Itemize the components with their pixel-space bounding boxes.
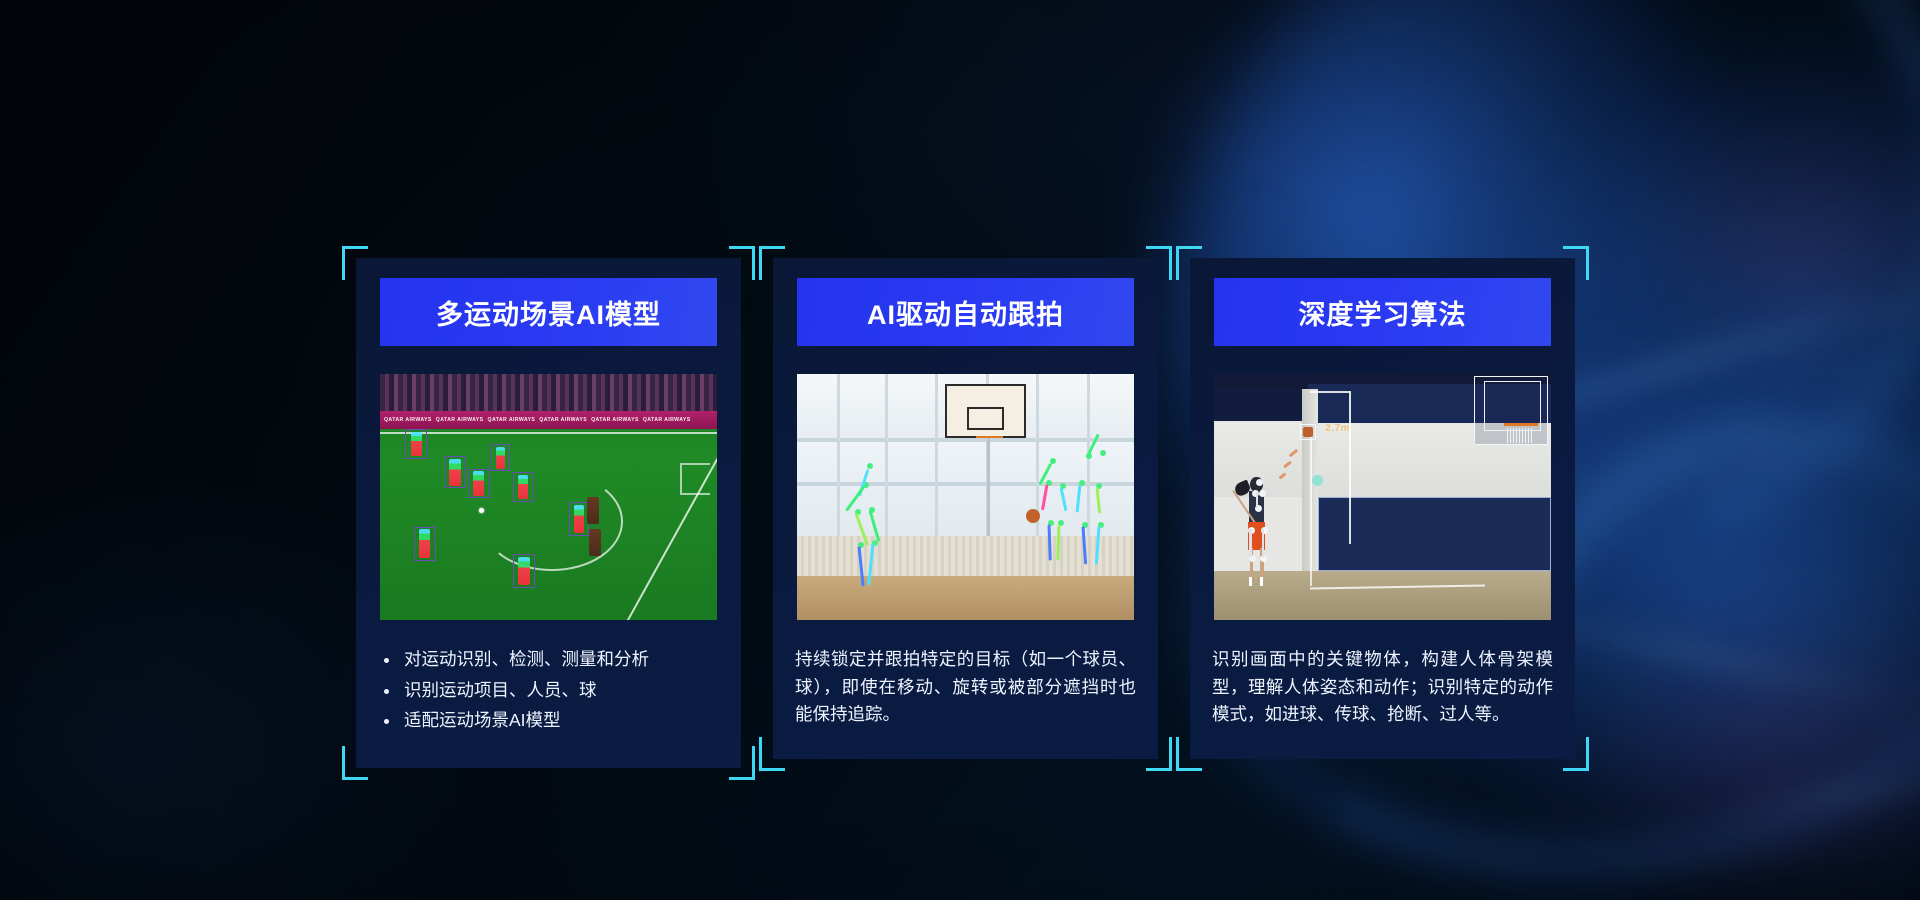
pitch-line-far (380, 432, 717, 434)
card-2-title: AI驱动自动跟拍 (797, 278, 1134, 346)
hoop-support-pole (987, 438, 990, 536)
stadium-crowd (380, 374, 717, 416)
navy-wall-left (1214, 389, 1308, 421)
detection-box (444, 456, 466, 488)
list-item: 适配运动场景AI模型 (378, 707, 719, 735)
ball-detection-box (1300, 424, 1316, 440)
pose-skeleton (844, 463, 898, 601)
player-sock (1260, 577, 1263, 586)
undetected-player (587, 497, 599, 524)
feature-card-3[interactable]: 深度学习算法 (1190, 258, 1575, 759)
card-2-body: 持续锁定并跟拍特定的目标（如一个球员、球），即使在移动、旋转或被部分遮挡时也能保… (773, 620, 1158, 759)
pitch-penalty-box (680, 463, 710, 495)
banner-text: QATAR AIRWAYS (484, 417, 536, 423)
detection-box (513, 554, 535, 588)
window-rail (797, 438, 1134, 442)
feature-cards-row: 多运动场景AI模型 QATAR AIRWAYS QATAR AIRWAYS QA… (0, 0, 1920, 900)
pitch-center-arc (481, 472, 623, 570)
detection-box (405, 429, 427, 459)
feature-card-1[interactable]: 多运动场景AI模型 QATAR AIRWAYS QATAR AIRWAYS QA… (356, 258, 741, 768)
banner-text: QATAR AIRWAYS (432, 417, 484, 423)
banner-text: QATAR AIRWAYS (380, 417, 432, 423)
wall-padding (1318, 497, 1551, 571)
card-1-panel: 多运动场景AI模型 QATAR AIRWAYS QATAR AIRWAYS QA… (356, 258, 741, 768)
card-2-paragraph: 持续锁定并跟拍特定的目标（如一个球员、球），即使在移动、旋转或被部分遮挡时也能保… (795, 646, 1136, 729)
bone (1249, 529, 1252, 557)
player-sock (1249, 577, 1252, 586)
banner-text: QATAR AIRWAYS (587, 417, 639, 423)
card-3-paragraph: 识别画面中的关键物体，构建人体骨架模型，理解人体姿态和动作；识别特定的动作模式，… (1212, 646, 1553, 729)
card-3-body: 识别画面中的关键物体，构建人体骨架模型，理解人体姿态和动作；识别特定的动作模式，… (1190, 620, 1575, 759)
card-2-panel: AI驱动自动跟拍 (773, 258, 1158, 759)
court-reference-line-vertical (1310, 433, 1312, 586)
card-1-title: 多运动场景AI模型 (380, 278, 717, 346)
bone (1256, 492, 1259, 507)
card-3-thumbnail[interactable]: 2.7m (1214, 374, 1551, 620)
basketball-gym-image (797, 374, 1134, 620)
card-1-body: 对运动识别、检测、测量和分析 识别运动项目、人员、球 适配运动场景AI模型 (356, 620, 741, 768)
distance-annotation: 2.7m (1325, 423, 1350, 434)
feature-card-2[interactable]: AI驱动自动跟拍 (773, 258, 1158, 759)
shot-tracking-image: 2.7m (1214, 374, 1551, 620)
detection-box (569, 502, 589, 536)
card-3-title: 深度学习算法 (1214, 278, 1551, 346)
banner-text: QATAR AIRWAYS (639, 417, 691, 423)
trajectory-line-vertical (1349, 391, 1351, 544)
backboard (945, 384, 1026, 438)
trajectory-line-horizontal (1310, 391, 1350, 393)
card-1-bullet-list: 对运动识别、检测、测量和分析 识别运动项目、人员、球 适配运动场景AI模型 (378, 646, 719, 735)
card-3-panel: 深度学习算法 (1190, 258, 1575, 759)
soccer-pitch-image: QATAR AIRWAYS QATAR AIRWAYS QATAR AIRWAY… (380, 374, 717, 620)
list-item: 对运动识别、检测、测量和分析 (378, 646, 719, 674)
bone (1262, 529, 1265, 557)
advertising-banner: QATAR AIRWAYS QATAR AIRWAYS QATAR AIRWAY… (380, 411, 717, 429)
undetected-player (589, 529, 601, 556)
detection-box (491, 444, 510, 471)
banner-text: QATAR AIRWAYS (535, 417, 587, 423)
detection-box (414, 527, 436, 561)
pose-skeleton (1067, 450, 1118, 600)
card-2-thumbnail[interactable] (797, 374, 1134, 620)
basketball-rim (1504, 423, 1538, 426)
player-skeleton (1241, 477, 1275, 585)
basketball-net (1507, 428, 1534, 443)
list-item: 识别运动项目、人员、球 (378, 677, 719, 705)
keypoint (1259, 490, 1266, 497)
detection-box (513, 472, 533, 502)
detection-box (468, 469, 490, 499)
keypoint-marker (1312, 475, 1323, 486)
card-1-thumbnail[interactable]: QATAR AIRWAYS QATAR AIRWAYS QATAR AIRWAY… (380, 374, 717, 620)
